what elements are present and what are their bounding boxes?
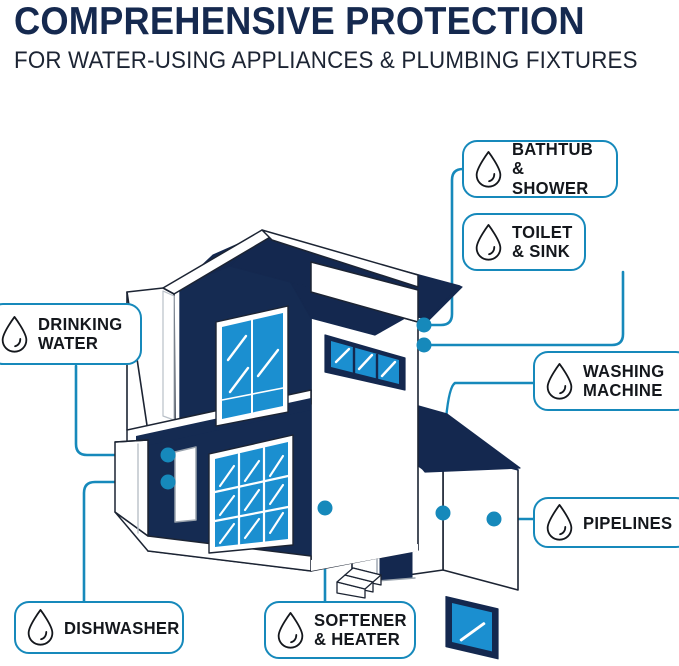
ground-floor-inner — [115, 440, 148, 536]
label-pipelines[interactable]: PIPELINES — [533, 497, 679, 548]
label-text: SOFTENER & HEATER — [314, 611, 407, 650]
infographic-canvas: COMPREHENSIVE PROTECTION FOR WATER-USING… — [0, 0, 679, 666]
water-drop-icon — [474, 151, 503, 188]
water-drop-icon — [474, 224, 503, 261]
water-drop-icon — [0, 316, 29, 353]
water-drop-icon — [545, 504, 574, 541]
upper-floor-dot-2 — [417, 338, 432, 353]
house-geometry — [115, 230, 520, 659]
label-text: PIPELINES — [583, 513, 672, 533]
label-text: TOILET & SINK — [512, 223, 573, 262]
annex-roof-dot — [436, 506, 451, 521]
label-drinking-water[interactable]: DRINKING WATER — [0, 303, 142, 365]
label-text: BATHTUB & SHOWER — [512, 140, 598, 199]
interior-door — [175, 447, 196, 522]
lower-floor-dot-2 — [161, 475, 176, 490]
water-drop-icon — [26, 609, 55, 646]
gable-inner-shade — [163, 291, 174, 420]
water-drop-icon — [276, 612, 305, 649]
label-text: DRINKING WATER — [38, 315, 122, 354]
annex-wall-dot — [487, 512, 502, 527]
front-wall-dot — [318, 501, 333, 516]
upper-floor-dot-1 — [417, 318, 432, 333]
water-drop-icon — [545, 363, 574, 400]
label-bathtub-and-shower[interactable]: BATHTUB & SHOWER — [462, 140, 618, 198]
lower-floor-dot-1 — [161, 448, 176, 463]
label-washing-machine[interactable]: WASHING MACHINE — [533, 351, 679, 411]
label-text: WASHING MACHINE — [583, 362, 664, 401]
label-softener-and-heater[interactable]: SOFTENER & HEATER — [264, 601, 416, 659]
connector-toilet — [424, 272, 623, 345]
label-text: DISHWASHER — [64, 618, 180, 638]
main-right-wall — [311, 292, 418, 571]
label-dishwasher[interactable]: DISHWASHER — [14, 601, 184, 654]
label-toilet-and-sink[interactable]: TOILET & SINK — [462, 213, 586, 271]
